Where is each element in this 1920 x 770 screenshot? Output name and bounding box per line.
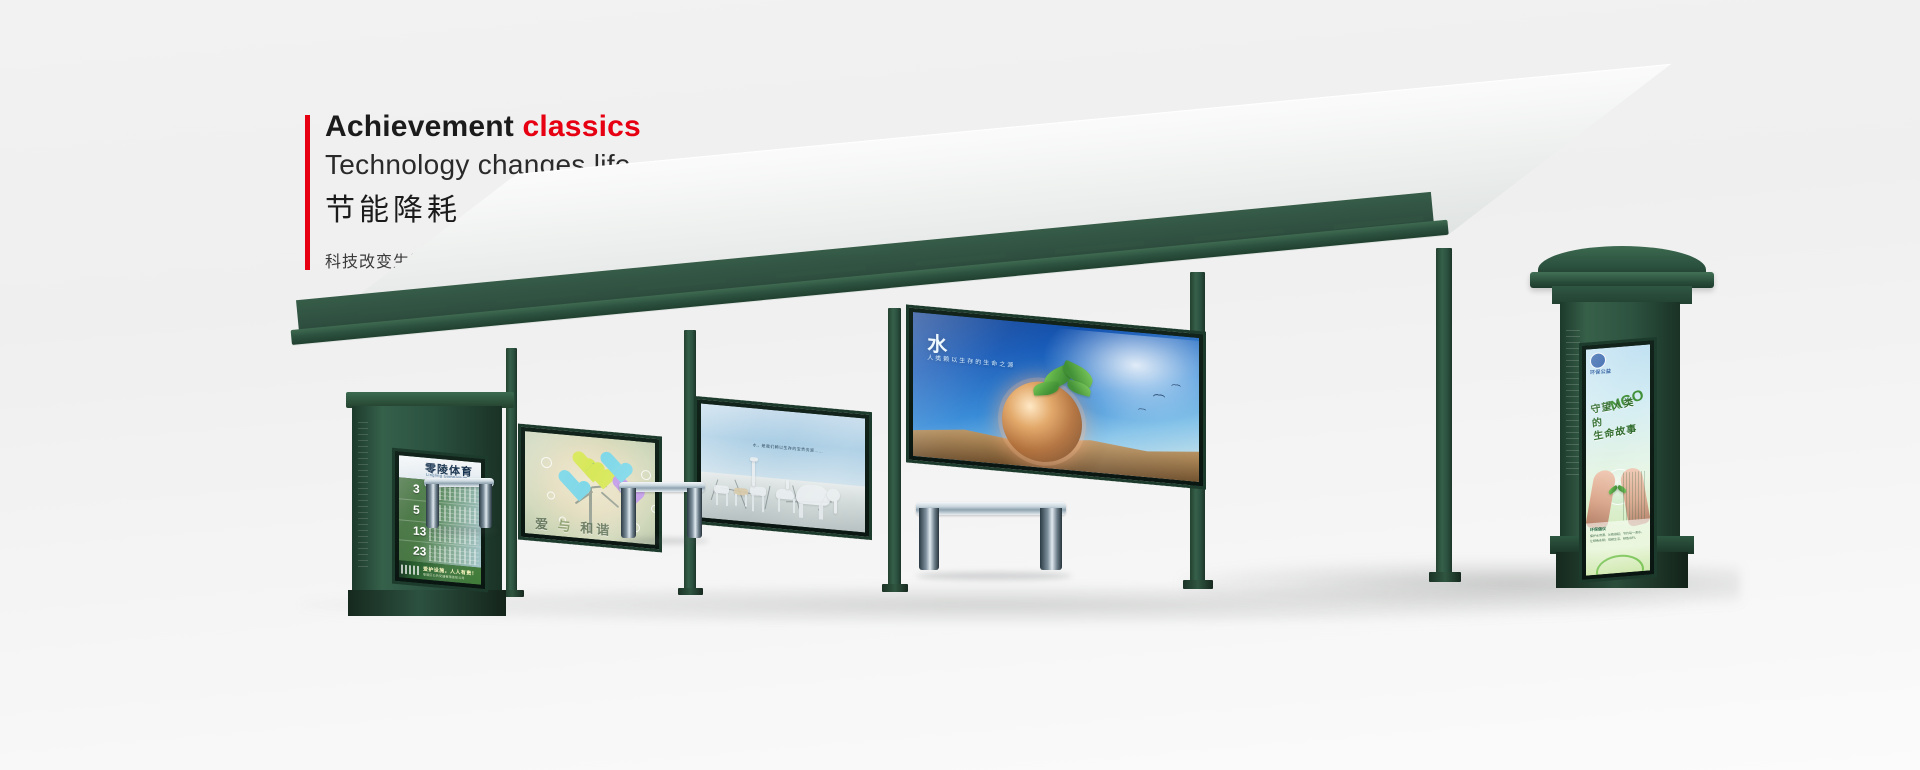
camel-leg bbox=[778, 497, 780, 511]
lightbox-screen: 零陵体育馆 Lingling Gymnasium 3 5 bbox=[399, 455, 481, 584]
giraffe-head bbox=[750, 457, 758, 462]
lightbox-water-poster[interactable]: 水 人类赖以生存的生命之源 bbox=[906, 304, 1206, 489]
operator-logo-icon bbox=[401, 564, 419, 575]
bench-leg bbox=[621, 488, 636, 538]
bench-leg bbox=[687, 488, 702, 538]
lightbox-screen: 水 人类赖以生存的生命之源 bbox=[913, 312, 1199, 482]
lightbox-screen: 水，是我们赖以生存的宝贵资源…… bbox=[701, 404, 865, 533]
post-base bbox=[882, 584, 908, 592]
poster-water: 水 人类赖以生存的生命之源 bbox=[913, 312, 1199, 482]
caption-part-2: 与 bbox=[558, 518, 574, 534]
ngo-logo-text: 环保公益 bbox=[1590, 368, 1611, 377]
support-post bbox=[888, 308, 901, 588]
elephant-trunk bbox=[834, 500, 837, 514]
lion-leg bbox=[745, 494, 747, 506]
bus-shelter: 零陵体育馆 Lingling Gymnasium 3 5 bbox=[0, 0, 1920, 770]
poster-body-text bbox=[1623, 471, 1645, 521]
caption-part-1: 爱 bbox=[535, 516, 551, 532]
bubble-decoration bbox=[651, 505, 655, 514]
bus-route-sign: 零陵体育馆 Lingling Gymnasium 3 5 bbox=[399, 455, 481, 584]
heart-shape bbox=[571, 451, 582, 462]
heart-shape bbox=[557, 470, 579, 492]
poster-ngo: 环保公益 NGO 守望人类的 生命故事 bbox=[1586, 344, 1650, 575]
support-post bbox=[1436, 248, 1452, 578]
camel-neck bbox=[786, 480, 789, 490]
post-base bbox=[678, 588, 703, 595]
scene: Achievement classics Technology changes … bbox=[0, 0, 1920, 770]
poster-subtitle: 人类赖以生存的生命之源 bbox=[927, 352, 1015, 369]
poster-footer: 环保倡议 保护水资源，从我做起；节约每一滴水，让绿色永续；低碳生活，绿色出行。 bbox=[1586, 518, 1650, 575]
lightbox-bus-route-sign[interactable]: 零陵体育馆 Lingling Gymnasium 3 5 bbox=[392, 448, 488, 593]
elephant-leg bbox=[799, 504, 803, 518]
bird-icon bbox=[1153, 394, 1165, 400]
lightbox-ngo-poster[interactable]: 环保公益 NGO 守望人类的 生命故事 bbox=[1579, 337, 1657, 583]
post-base bbox=[1429, 572, 1461, 582]
bubble-decoration bbox=[641, 470, 651, 481]
roof-rib bbox=[357, 302, 447, 316]
bench-shadow bbox=[916, 572, 1072, 580]
poster-title: 守望人类的 生命故事 bbox=[1590, 394, 1648, 444]
support-post bbox=[506, 348, 517, 596]
camel-leg bbox=[793, 499, 795, 513]
route-number: 23 bbox=[413, 544, 426, 559]
giraffe-leg bbox=[762, 496, 764, 512]
poster-caption: 爱 与 和谐 bbox=[535, 513, 612, 539]
giraffe-neck bbox=[752, 461, 755, 487]
bench-leg bbox=[479, 484, 492, 528]
lion-leg bbox=[735, 493, 737, 505]
bubble-decoration bbox=[547, 491, 555, 500]
horse-leg bbox=[716, 492, 718, 505]
horse-leg bbox=[726, 492, 728, 505]
bench-leg bbox=[426, 484, 439, 528]
bird-icon bbox=[1172, 384, 1182, 389]
bench-leg bbox=[919, 508, 939, 570]
route-number: 5 bbox=[413, 502, 420, 517]
bubble-decoration bbox=[541, 457, 552, 469]
elephant-leg bbox=[819, 505, 823, 519]
bird-icon bbox=[1138, 408, 1146, 412]
ngo-logo-icon bbox=[1591, 353, 1605, 368]
column-plinth bbox=[348, 590, 506, 616]
lightbox-screen: 环保公益 NGO 守望人类的 生命故事 bbox=[1586, 344, 1650, 575]
post-base bbox=[1183, 580, 1213, 589]
bench-shadow bbox=[424, 528, 496, 534]
caption-part-3: 和谐 bbox=[580, 520, 612, 538]
bench-leg bbox=[1040, 508, 1062, 570]
roof-rib bbox=[497, 290, 587, 304]
bench-shadow bbox=[619, 538, 709, 544]
lightbox-drought-animals[interactable]: 水，是我们赖以生存的宝贵资源…… bbox=[694, 396, 872, 540]
giraffe-leg bbox=[752, 495, 754, 511]
route-number: 3 bbox=[413, 482, 420, 497]
route-list: 3 5 13 23 bbox=[399, 477, 481, 567]
column-vent bbox=[358, 422, 368, 572]
tower-vent bbox=[1566, 330, 1580, 480]
